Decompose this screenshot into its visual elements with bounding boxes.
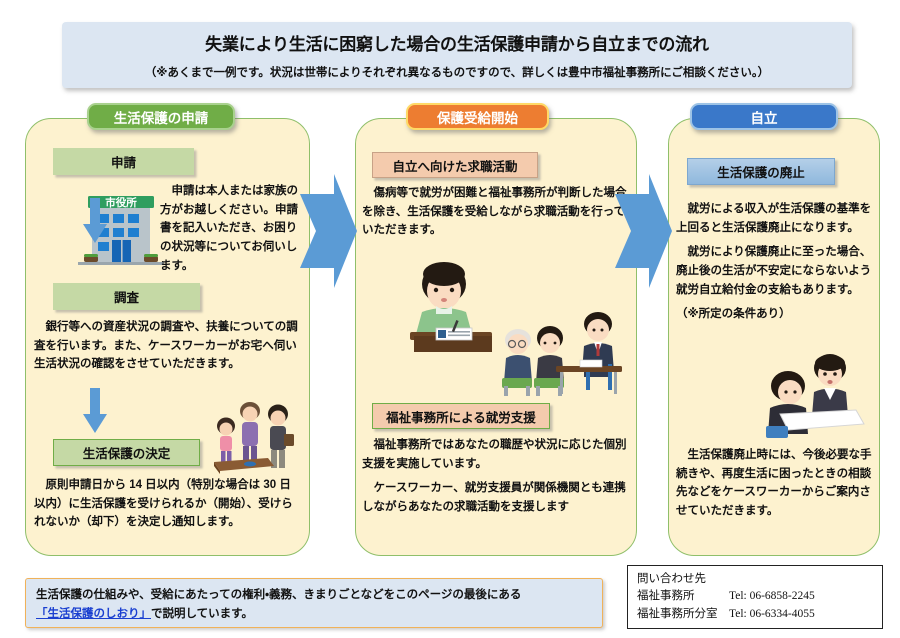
infographic-page: 失業により生活に困窮した場合の生活保護申請から自立までの流れ （※あくまで一例で… [0,0,900,638]
paragraph: 就労による収入が生活保護の基準を上回ると生活保護廃止になります。 [676,200,872,237]
contact-office-tel: Tel: 06-6858-2245 [729,588,815,605]
section-heading-employment-support: 福祉事務所による就労支援 [372,403,550,429]
title-banner: 失業により生活に困窮した場合の生活保護申請から自立までの流れ （※あくまで一例で… [62,22,852,88]
family-visit-illustration [206,396,306,478]
paragraph: 就労により保護廃止に至った場合、廃止後の生活が不安定にならないよう就労自立給付金… [676,243,872,299]
section-body-jobseeking: 傷病等で就労が困難と福祉事務所が判断した場合を除き、生活保護を受給しながら求職活… [362,184,632,240]
contact-office-name: 福祉事務所 [637,588,729,605]
section-body-guidance: 生活保護廃止時には、今後必要な手続きや、再度生活に困ったときの相談先などをケース… [676,446,872,521]
stage-badge-independence: 自立 [690,103,838,130]
stage-badge-application: 生活保護の申請 [87,103,235,130]
consultation-illustration [760,352,872,440]
handbook-link[interactable]: 「生活保護のしおり」 [36,608,151,620]
section-heading-jobseeking: 自立へ向けた求職活動 [372,152,538,178]
paragraph: ケースワーカー、就労支援員が関係機関とも連携しながらあなたの求職活動を支援します [362,479,632,516]
section-body-application: 申請は本人または家族の方がお越しください。申請書を記入いただき、お困りの状況等に… [160,182,302,275]
svg-text:市役所: 市役所 [105,196,137,209]
contact-row: 福祉事務所 Tel: 06-6858-2245 [637,588,882,605]
flow-arrow-down-icon-2 [82,388,108,434]
section-body-decision: 原則申請日から 14 日以内（特別な場合は 30 日以内）に生活保護を受けられる… [34,476,302,532]
section-heading-termination: 生活保護の廃止 [687,158,835,185]
contact-row: 福祉事務所分室 Tel: 06-6334-4055 [637,606,882,623]
contact-branch-name: 福祉事務所分室 [637,606,729,623]
footer-note-line2: で説明しています。 [151,608,253,620]
section-heading-application: 申請 [53,148,194,175]
paragraph: 傷病等で就労が困難と福祉事務所が判断した場合を除き、生活保護を受給しながら求職活… [362,184,632,240]
footer-note-line1: 生活保護の仕組みや、受給にあたっての権利・義務、きまりごとなどをこのページの最後… [36,589,521,601]
contact-branch-tel: Tel: 06-6334-4055 [729,606,815,623]
paragraph: 福祉事務所ではあなたの職歴や状況に応じた個別支援を実施しています。 [362,436,632,473]
contact-box: 問い合わせ先 福祉事務所 Tel: 06-6858-2245 福祉事務所分室 T… [627,565,883,629]
flow-arrow-right-icon-2 [615,172,673,290]
flow-arrow-down-icon [82,198,108,244]
paragraph: （※所定の条件あり） [676,305,872,324]
section-heading-decision: 生活保護の決定 [53,439,200,466]
stage-badge-receiving: 保護受給開始 [406,103,549,130]
paragraph: 原則申請日から 14 日以内（特別な場合は 30 日以内）に生活保護を受けられる… [34,476,302,532]
contact-heading: 問い合わせ先 [637,571,882,588]
section-body-employment-support: 福祉事務所ではあなたの職歴や状況に応じた個別支援を実施しています。 ケースワーカ… [362,436,632,517]
paragraph: 生活保護廃止時には、今後必要な手続きや、再度生活に困ったときの相談先などをケース… [676,446,872,521]
paragraph: 申請は本人または家族の方がお越しください。申請書を記入いただき、お困りの状況等に… [160,182,302,275]
footer-note-box: 生活保護の仕組みや、受給にあたっての権利・義務、きまりごとなどをこのページの最後… [25,578,603,628]
page-title: 失業により生活に困窮した場合の生活保護申請から自立までの流れ [205,30,709,55]
flow-arrow-right-icon [300,172,358,290]
section-heading-investigation: 調査 [53,283,200,310]
page-subtitle: （※あくまで一例です。状況は世帯によりそれぞれ異なるものですので、詳しくは豊中市… [145,64,769,80]
employment-seminar-illustration [488,308,636,400]
section-body-investigation: 銀行等への資産状況の調査や、扶養についての調査を行います。また、ケースワーカーが… [34,318,302,374]
section-body-termination: 就労による収入が生活保護の基準を上回ると生活保護廃止になります。 就労により保護… [676,200,872,324]
paragraph: 銀行等への資産状況の調査や、扶養についての調査を行います。また、ケースワーカーが… [34,318,302,374]
